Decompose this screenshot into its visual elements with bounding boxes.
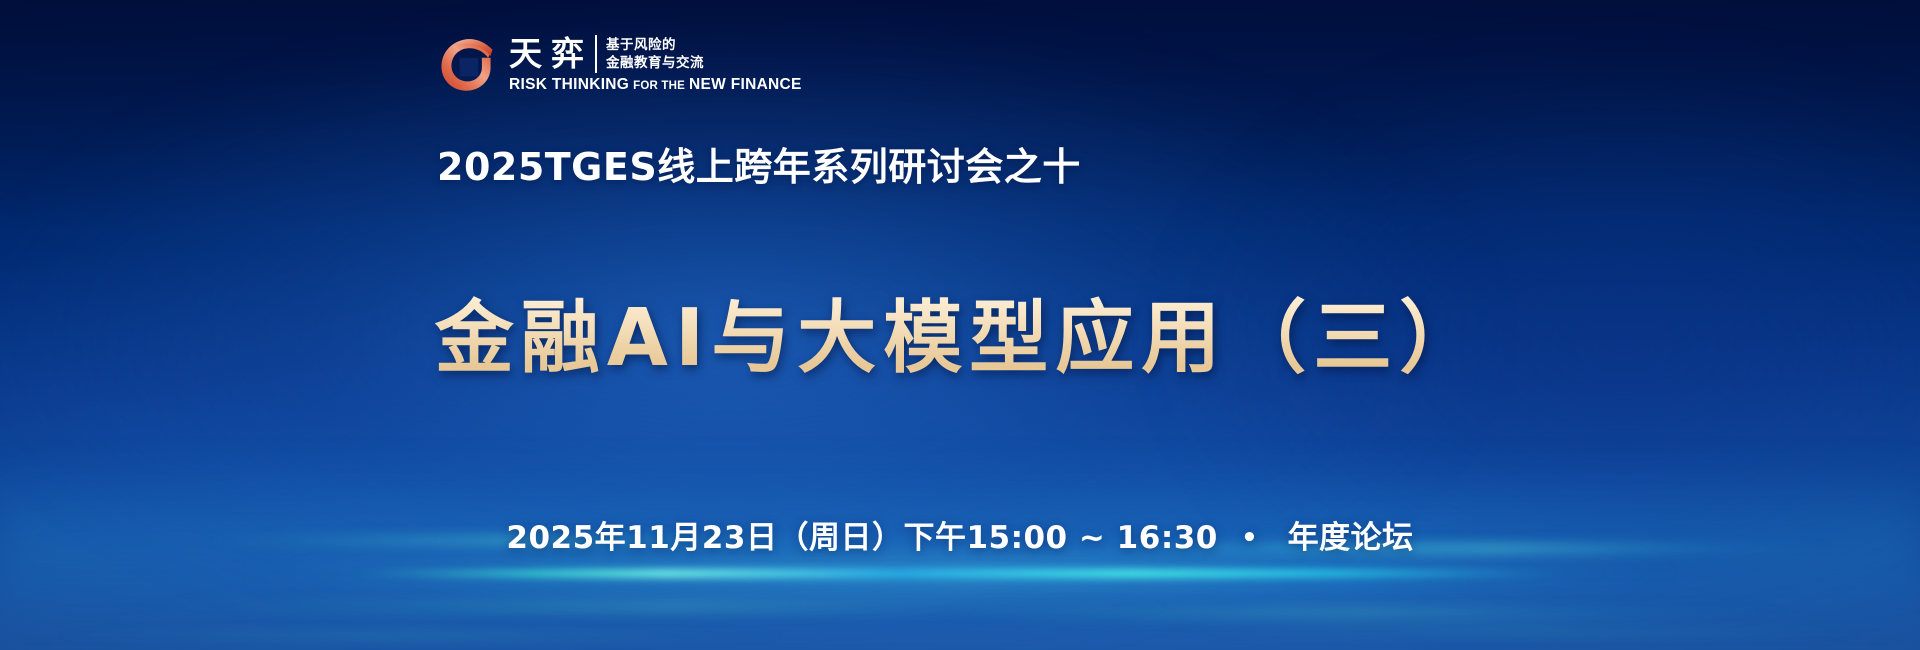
event-meta-line: 2025年11月23日（周日）下午15:00 ~ 16:30 • 年度论坛: [0, 518, 1920, 558]
logo-slogan-cn-line2: 金融教育与交流: [606, 54, 704, 72]
light-streak-main: [346, 569, 1575, 578]
page-title: 金融AI与大模型应用（三）: [435, 292, 1486, 384]
event-category: 年度论坛: [1288, 520, 1414, 556]
logo-slogan-en: RISK THINKING FOR THE NEW FINANCE: [509, 76, 802, 94]
headline-container: 金融AI与大模型应用（三）: [0, 292, 1920, 384]
background-top-shade: [0, 0, 1920, 230]
light-streak: [38, 633, 806, 638]
light-streak: [115, 604, 1190, 610]
webinar-banner: 天弈 基于风险的 金融教育与交流 RISK THINKING FOR THE N…: [0, 0, 1920, 650]
light-streak: [922, 610, 1805, 616]
logo-divider: [595, 35, 597, 73]
logo-slogan-cn-line1: 基于风险的: [606, 36, 704, 54]
light-streak-bloom: [230, 561, 1689, 587]
meta-separator-dot: •: [1241, 518, 1258, 558]
series-subtitle: 2025TGES线上跨年系列研讨会之十: [437, 144, 1081, 190]
light-streak: [1152, 629, 1882, 634]
event-datetime: 2025年11月23日（周日）下午15:00 ~ 16:30: [506, 520, 1217, 556]
brand-logo-lockup: 天弈 基于风险的 金融教育与交流 RISK THINKING FOR THE N…: [436, 33, 802, 95]
logo-brand-cn: 天弈: [509, 36, 593, 72]
logo-text-column: 天弈 基于风险的 金融教育与交流 RISK THINKING FOR THE N…: [509, 33, 802, 94]
logo-slogan-en-small: FOR THE: [633, 80, 685, 92]
tianyi-g-mark-icon: [436, 33, 498, 95]
logo-slogan-en-part1: RISK THINKING: [509, 76, 629, 94]
logo-slogan-cn-block: 基于风险的 金融教育与交流: [606, 36, 704, 72]
logo-slogan-en-part2: NEW FINANCE: [689, 76, 802, 94]
logo-top-row: 天弈 基于风险的 金融教育与交流: [509, 35, 802, 73]
